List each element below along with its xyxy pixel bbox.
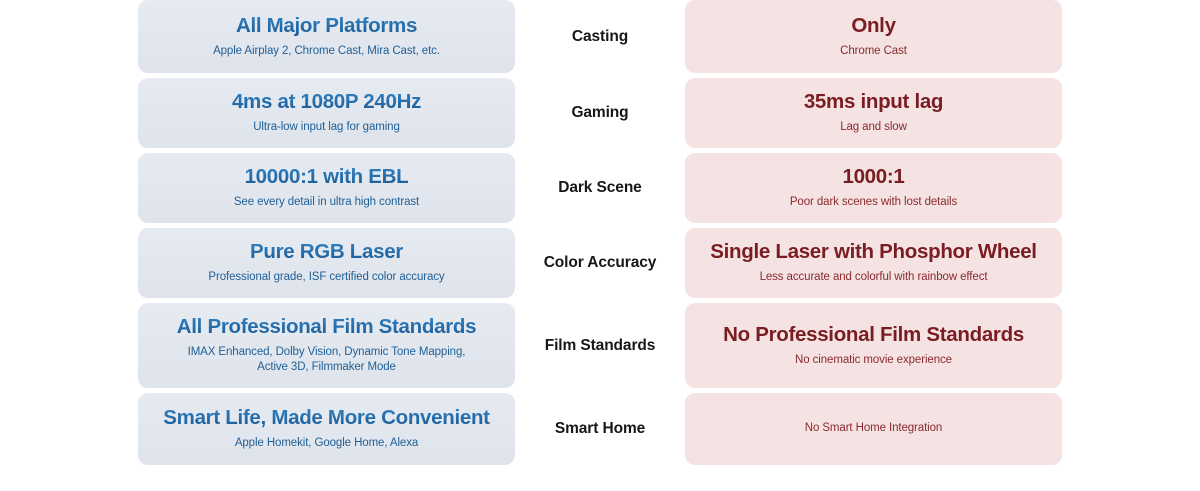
pro-subtitle: IMAX Enhanced, Dolby Vision, Dynamic Ton…	[187, 345, 467, 376]
pro-title: 10000:1 with EBL	[245, 165, 409, 190]
table-row: 10000:1 with EBL See every detail in ult…	[0, 153, 1200, 223]
feature-label-film-standards: Film Standards	[515, 303, 685, 388]
table-row: Smart Life, Made More Convenient Apple H…	[0, 393, 1200, 465]
pro-subtitle: Ultra-low input lag for gaming	[253, 120, 400, 136]
table-row: All Major Platforms Apple Airplay 2, Chr…	[0, 0, 1200, 73]
pro-title: 4ms at 1080P 240Hz	[232, 90, 421, 115]
pro-title: All Major Platforms	[236, 14, 417, 39]
con-title: No Professional Film Standards	[723, 323, 1024, 348]
con-subtitle: Less accurate and colorful with rainbow …	[760, 270, 988, 286]
con-subtitle: Chrome Cast	[840, 44, 907, 60]
pro-title: All Professional Film Standards	[177, 315, 476, 340]
feature-label-text: Smart Home	[555, 420, 645, 438]
con-subtitle: Poor dark scenes with lost details	[790, 195, 957, 211]
feature-label-dark-scene: Dark Scene	[515, 153, 685, 223]
con-subtitle: No Smart Home Integration	[805, 421, 942, 437]
pro-title: Smart Life, Made More Convenient	[163, 406, 489, 431]
con-cell-gaming: 35ms input lag Lag and slow	[685, 78, 1062, 148]
con-cell-casting: Only Chrome Cast	[685, 0, 1062, 73]
con-cell-dark-scene: 1000:1 Poor dark scenes with lost detail…	[685, 153, 1062, 223]
feature-label-text: Color Accuracy	[544, 254, 657, 272]
feature-label-text: Dark Scene	[558, 179, 641, 197]
table-row: 4ms at 1080P 240Hz Ultra-low input lag f…	[0, 78, 1200, 148]
pro-cell-color-accuracy: Pure RGB Laser Professional grade, ISF c…	[138, 228, 515, 298]
feature-label-color-accuracy: Color Accuracy	[515, 228, 685, 298]
feature-label-text: Gaming	[571, 104, 628, 122]
pro-subtitle: See every detail in ultra high contrast	[234, 195, 419, 211]
pro-cell-smart-home: Smart Life, Made More Convenient Apple H…	[138, 393, 515, 465]
table-row: Pure RGB Laser Professional grade, ISF c…	[0, 228, 1200, 298]
feature-comparison-table: All Major Platforms Apple Airplay 2, Chr…	[0, 0, 1200, 491]
feature-label-text: Film Standards	[545, 337, 656, 355]
con-cell-color-accuracy: Single Laser with Phosphor Wheel Less ac…	[685, 228, 1062, 298]
pro-subtitle: Apple Homekit, Google Home, Alexa	[235, 436, 418, 452]
con-title: 35ms input lag	[804, 90, 943, 115]
feature-label-smart-home: Smart Home	[515, 393, 685, 465]
pro-cell-film-standards: All Professional Film Standards IMAX Enh…	[138, 303, 515, 388]
feature-label-gaming: Gaming	[515, 78, 685, 148]
pro-subtitle: Apple Airplay 2, Chrome Cast, Mira Cast,…	[213, 44, 440, 60]
pro-title: Pure RGB Laser	[250, 240, 403, 265]
pro-cell-casting: All Major Platforms Apple Airplay 2, Chr…	[138, 0, 515, 73]
con-subtitle: No cinematic movie experience	[795, 353, 952, 369]
con-cell-smart-home: No Smart Home Integration	[685, 393, 1062, 465]
con-title: Single Laser with Phosphor Wheel	[710, 240, 1036, 265]
pro-subtitle: Professional grade, ISF certified color …	[208, 270, 444, 286]
pro-cell-gaming: 4ms at 1080P 240Hz Ultra-low input lag f…	[138, 78, 515, 148]
con-subtitle: Lag and slow	[840, 120, 907, 136]
table-row: All Professional Film Standards IMAX Enh…	[0, 303, 1200, 388]
pro-cell-dark-scene: 10000:1 with EBL See every detail in ult…	[138, 153, 515, 223]
con-cell-film-standards: No Professional Film Standards No cinema…	[685, 303, 1062, 388]
feature-label-casting: Casting	[515, 0, 685, 73]
con-title: 1000:1	[842, 165, 904, 190]
con-title: Only	[851, 14, 895, 39]
feature-label-text: Casting	[572, 28, 628, 46]
